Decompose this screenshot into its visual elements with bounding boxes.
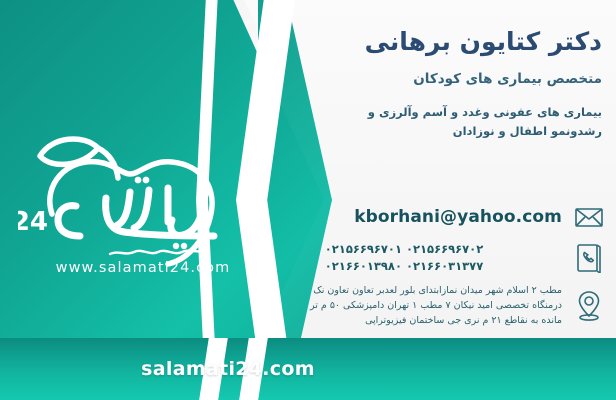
- svg-text:24: 24: [18, 207, 48, 237]
- contact-row-phone[interactable]: ۰۲۱۵۶۶۹۶۷۰۲ ۰۲۱۵۶۶۹۶۷۰۱ ۰۲۱۶۶۰۳۱۳۷۷ ۰۲۱۶…: [242, 241, 606, 276]
- contact-list: kborhani@yahoo.com ۰۲۱۵۶۶۹۶۷۰۲ ۰۲۱۵۶۶۹۶۷…: [242, 200, 606, 335]
- footer-website[interactable]: salamati24.com: [0, 358, 616, 380]
- envelope-icon: [572, 200, 606, 234]
- phone-book-icon: [572, 241, 606, 275]
- doctor-specialty: متخصص بیماری های کودکان: [244, 71, 602, 87]
- doctor-subspecialty: بیماری های عفونی وغدد و آسم وآلرزی و رشد…: [244, 103, 602, 141]
- phone-numbers[interactable]: ۰۲۱۵۶۶۹۶۷۰۲ ۰۲۱۵۶۶۹۶۷۰۱ ۰۲۱۶۶۰۳۱۳۷۷ ۰۲۱۶…: [242, 241, 562, 276]
- badge-24: 24: [18, 207, 48, 237]
- contact-row-address[interactable]: مطب ۲ اسلام شهر میدان نمازابتدای بلور لع…: [242, 283, 606, 329]
- phone-line-1: ۰۲۱۵۶۶۹۶۷۰۲ ۰۲۱۵۶۶۹۶۷۰۱: [246, 241, 562, 258]
- subspecialty-line-2: رشدونمو اطفال و نوزادان: [244, 122, 602, 141]
- salamati24-logo: 24 www.salamati24.com: [18, 118, 266, 288]
- contact-row-email[interactable]: kborhani@yahoo.com: [242, 200, 606, 234]
- address-line-3: مانده به نقاطع ۲۱ م نری جی ساختمان فیزیو…: [246, 313, 562, 328]
- business-card: 24 www.salamati24.com دکتر کتایون برهانی…: [0, 0, 616, 400]
- location-pin-icon: [572, 288, 606, 322]
- doctor-name: دکتر کتایون برهانی: [244, 26, 602, 57]
- phone-line-2: ۰۲۱۶۶۰۳۱۳۷۷ ۰۲۱۶۶۰۱۳۹۸۰: [246, 258, 562, 275]
- email-address[interactable]: kborhani@yahoo.com: [242, 207, 562, 227]
- clinic-address[interactable]: مطب ۲ اسلام شهر میدان نمازابتدای بلور لع…: [242, 283, 562, 329]
- subspecialty-line-1: بیماری های عفونی وغدد و آسم وآلرزی و: [244, 103, 602, 122]
- address-line-1: مطب ۲ اسلام شهر میدان نمازابتدای بلور لع…: [246, 283, 562, 298]
- logo-website-url: www.salamati24.com: [24, 260, 262, 276]
- doctor-info-block: دکتر کتایون برهانی متخصص بیماری های کودک…: [244, 26, 602, 141]
- address-line-2: درمنگاه تخصصی امید نیکان ۷ مطب ۱ تهران د…: [246, 298, 562, 313]
- footer-band: salamati24.com: [0, 338, 616, 400]
